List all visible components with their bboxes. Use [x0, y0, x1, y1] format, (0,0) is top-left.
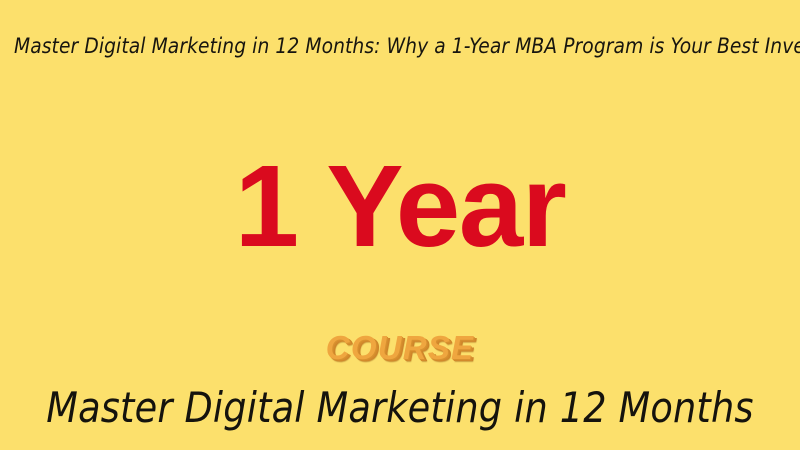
slide-canvas: Master Digital Marketing in 12 Months: W… [0, 0, 800, 450]
slide-top-headline: Master Digital Marketing in 12 Months: W… [14, 34, 786, 60]
kicker-container: COURSE [0, 331, 800, 365]
course-kicker-label: COURSE [326, 331, 474, 365]
hero-duration-title: 1 Year [235, 148, 566, 264]
slide-course-name: Master Digital Marketing in 12 Months [12, 383, 788, 433]
hero-title-container: 1 Year [0, 148, 800, 264]
